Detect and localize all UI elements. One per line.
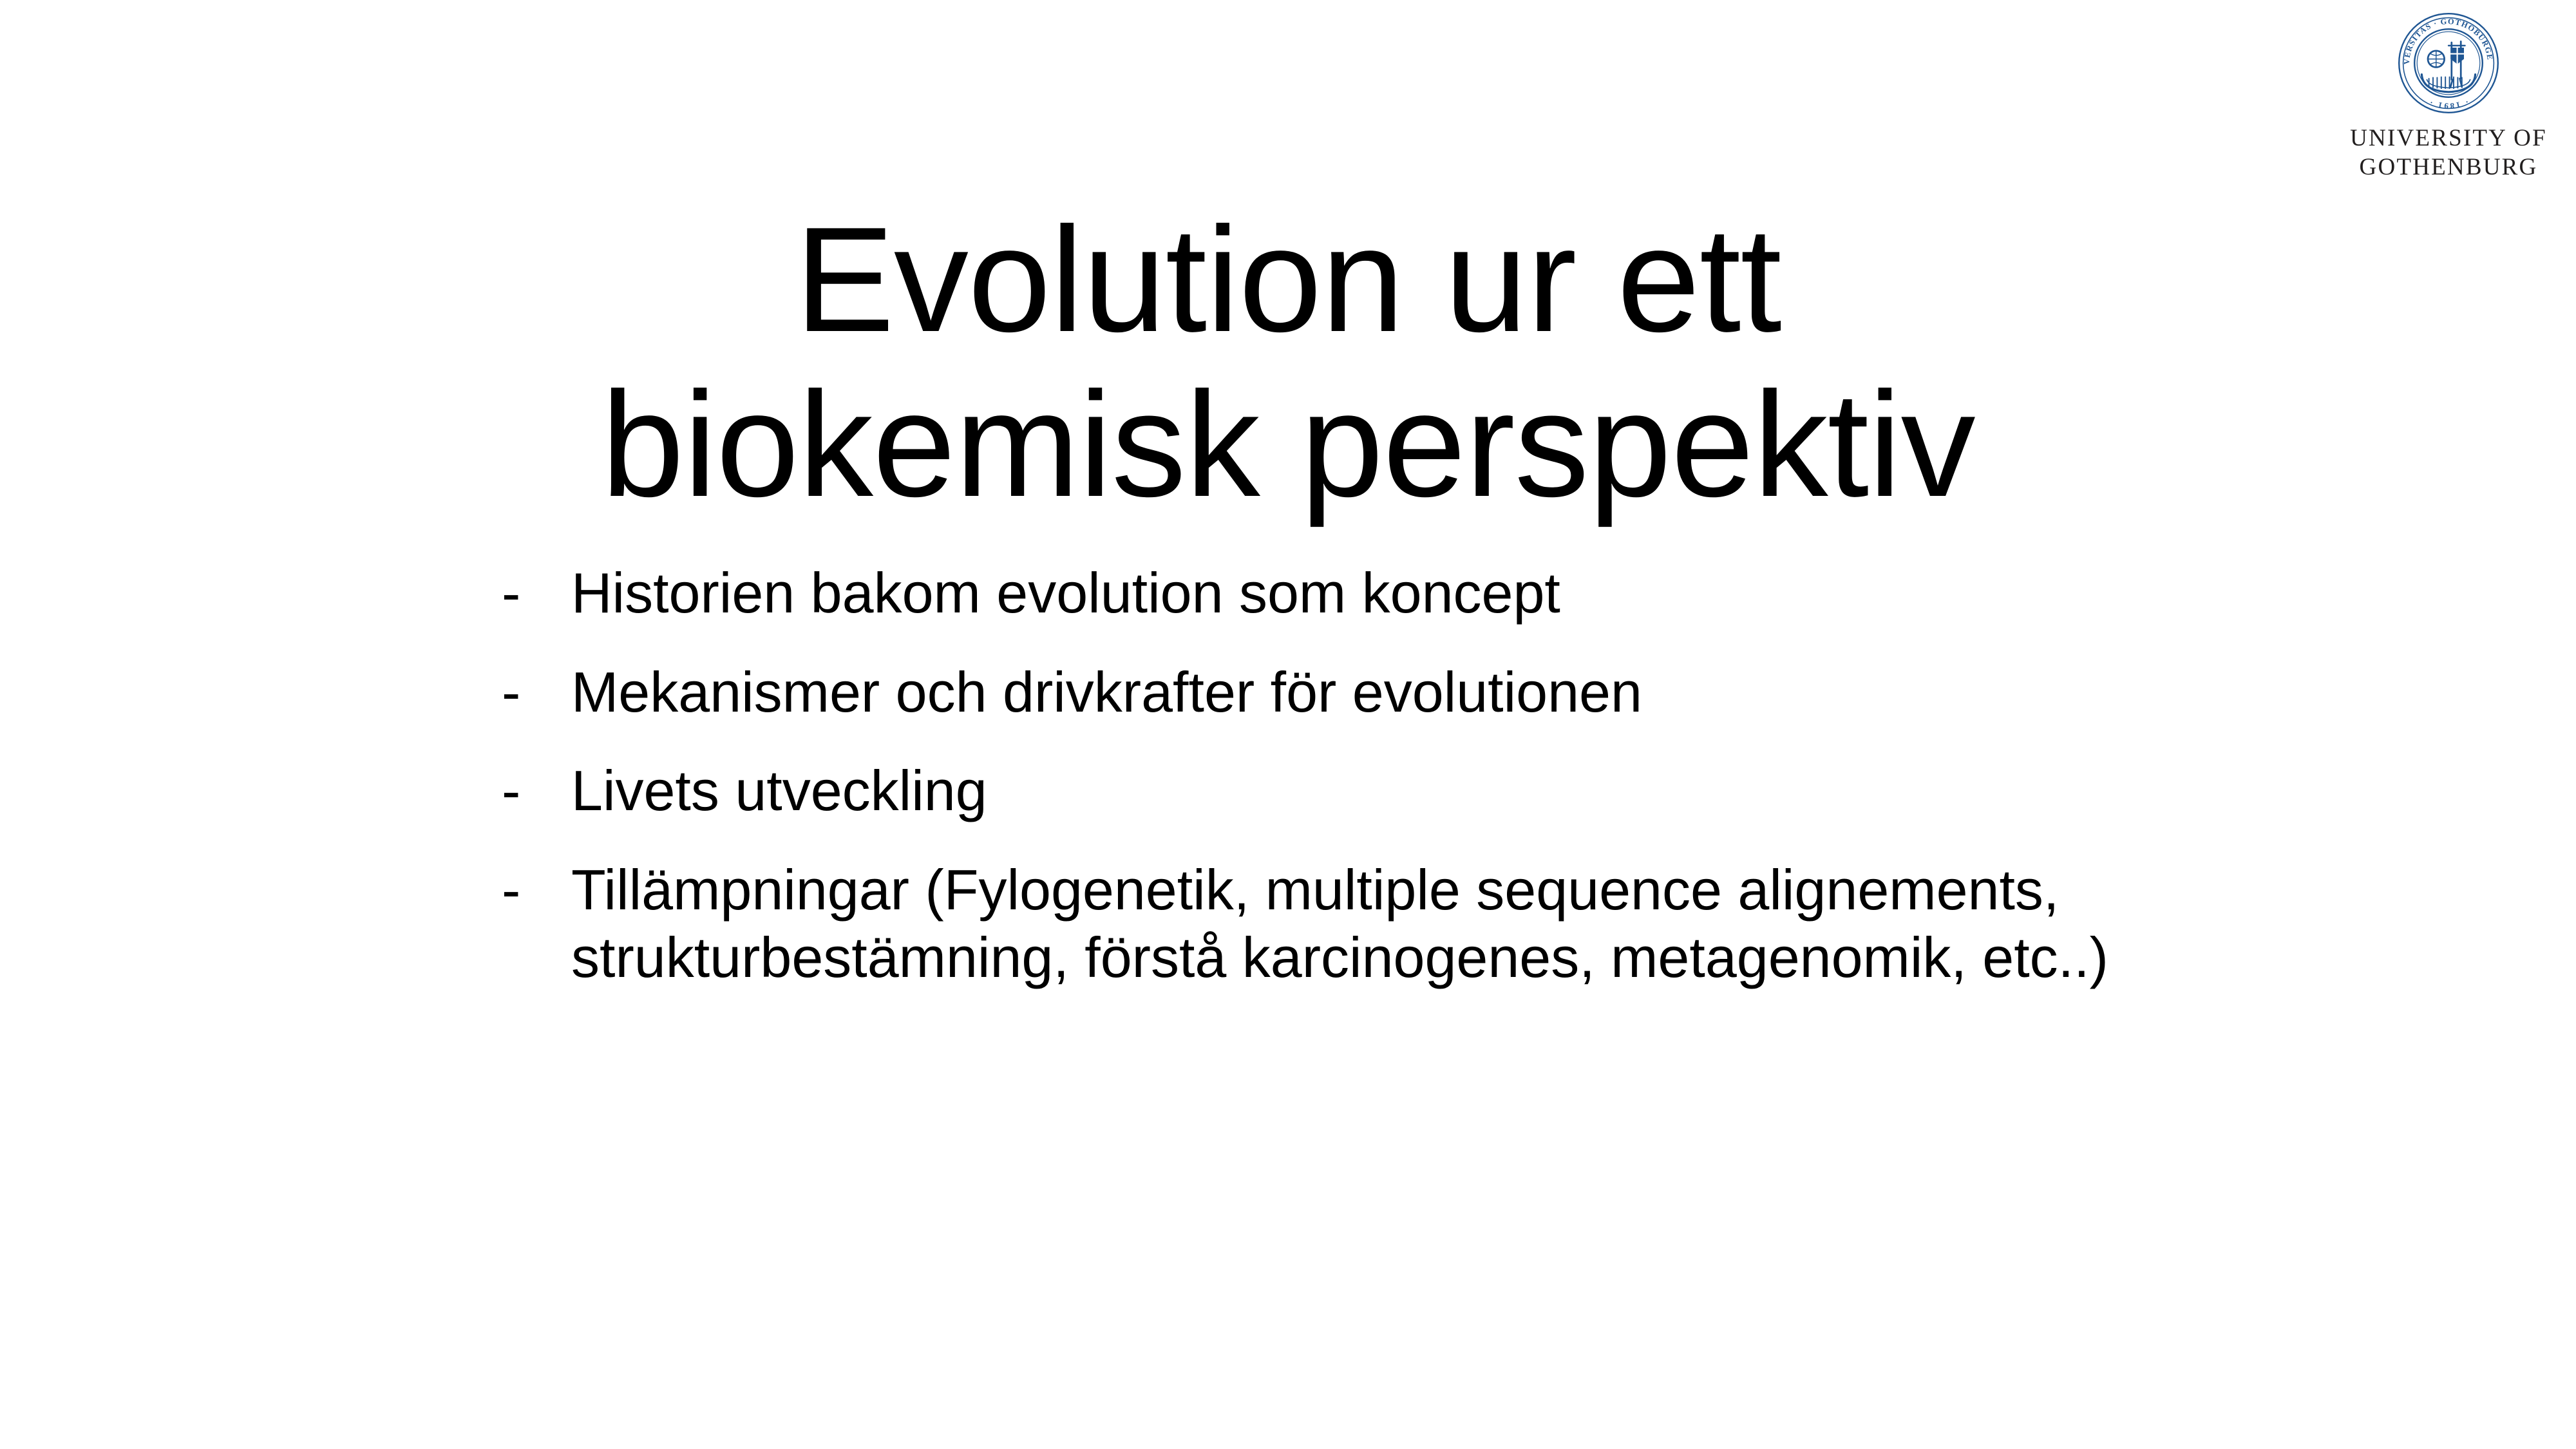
list-item-line: Livets utveckling: [571, 757, 2341, 825]
list-item: - Historien bakom evolution som koncept: [499, 559, 2341, 627]
list-item-label: Tillämpningar (Fylogenetik, multiple seq…: [571, 856, 2341, 992]
wordmark-line-2: GOTHENBURG: [2350, 153, 2547, 182]
university-wordmark: UNIVERSITY OF GOTHENBURG: [2350, 124, 2547, 182]
slide-title-line-2: biokemisk perspektiv: [0, 363, 2576, 527]
list-item: - Livets utveckling: [499, 757, 2341, 825]
university-logo: UNIVERSITAS · GOTHOBURGENSIS · 1891 ·: [2329, 12, 2568, 182]
bullet-list: - Historien bakom evolution som koncept …: [499, 559, 2341, 992]
list-item-line: Historien bakom evolution som koncept: [571, 559, 2341, 627]
list-item: - Tillämpningar (Fylogenetik, multiple s…: [499, 856, 2341, 992]
list-item: - Mekanismer och drivkrafter för evoluti…: [499, 658, 2341, 726]
dash-bullet-icon: -: [499, 856, 571, 924]
list-item-line: strukturbestämning, förstå karcinogenes,…: [571, 923, 2341, 992]
list-item-label: Mekanismer och drivkrafter för evolution…: [571, 658, 2341, 726]
wordmark-line-1: UNIVERSITY OF: [2350, 124, 2547, 153]
university-seal-icon: UNIVERSITAS · GOTHOBURGENSIS · 1891 ·: [2397, 12, 2500, 115]
list-item-label: Livets utveckling: [571, 757, 2341, 825]
dash-bullet-icon: -: [499, 658, 571, 726]
slide-title-line-1: Evolution ur ett: [0, 198, 2576, 362]
list-item-line: Tillämpningar (Fylogenetik, multiple seq…: [571, 856, 2341, 924]
slide-title: Evolution ur ett biokemisk perspektiv: [0, 198, 2576, 526]
dash-bullet-icon: -: [499, 559, 571, 627]
slide-canvas: UNIVERSITAS · GOTHOBURGENSIS · 1891 ·: [0, 0, 2576, 1449]
dash-bullet-icon: -: [499, 757, 571, 825]
list-item-label: Historien bakom evolution som koncept: [571, 559, 2341, 627]
svg-text:UNIVERSITAS · GOTHOBURGENSIS: UNIVERSITAS · GOTHOBURGENSIS: [2397, 12, 2495, 65]
list-item-line: Mekanismer och drivkrafter för evolution…: [571, 658, 2341, 726]
